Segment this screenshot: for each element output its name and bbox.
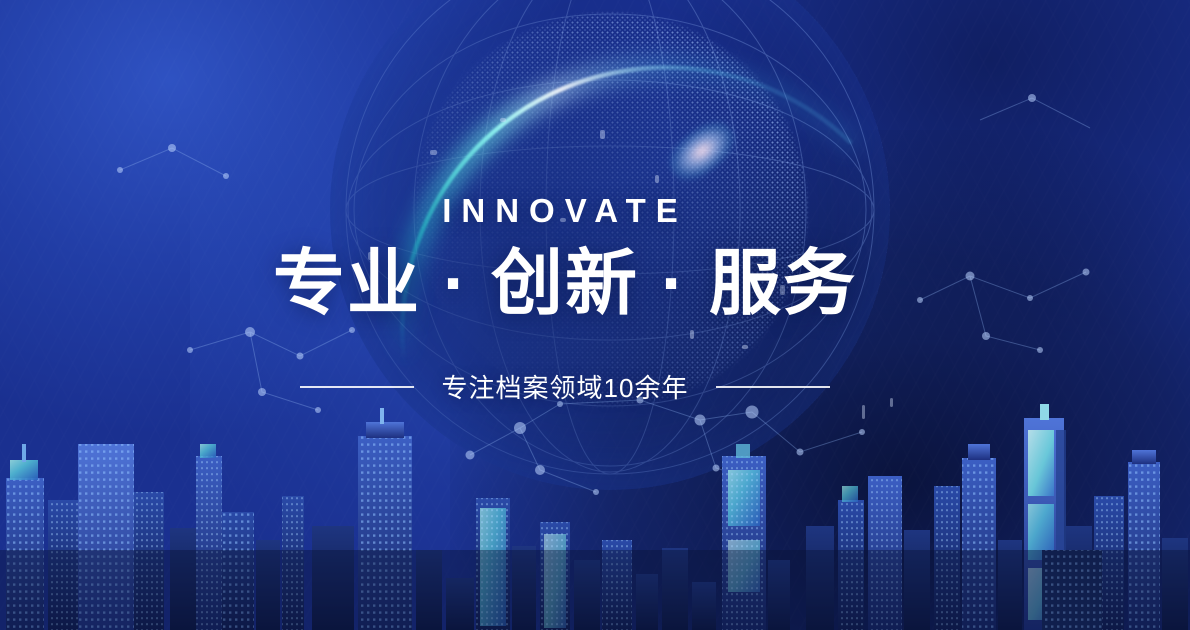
hero-banner: INNOVATE 专业 · 创新 · 服务 专注档案领域10余年 [0,0,1190,630]
dot-wave-terrain [0,415,1190,630]
